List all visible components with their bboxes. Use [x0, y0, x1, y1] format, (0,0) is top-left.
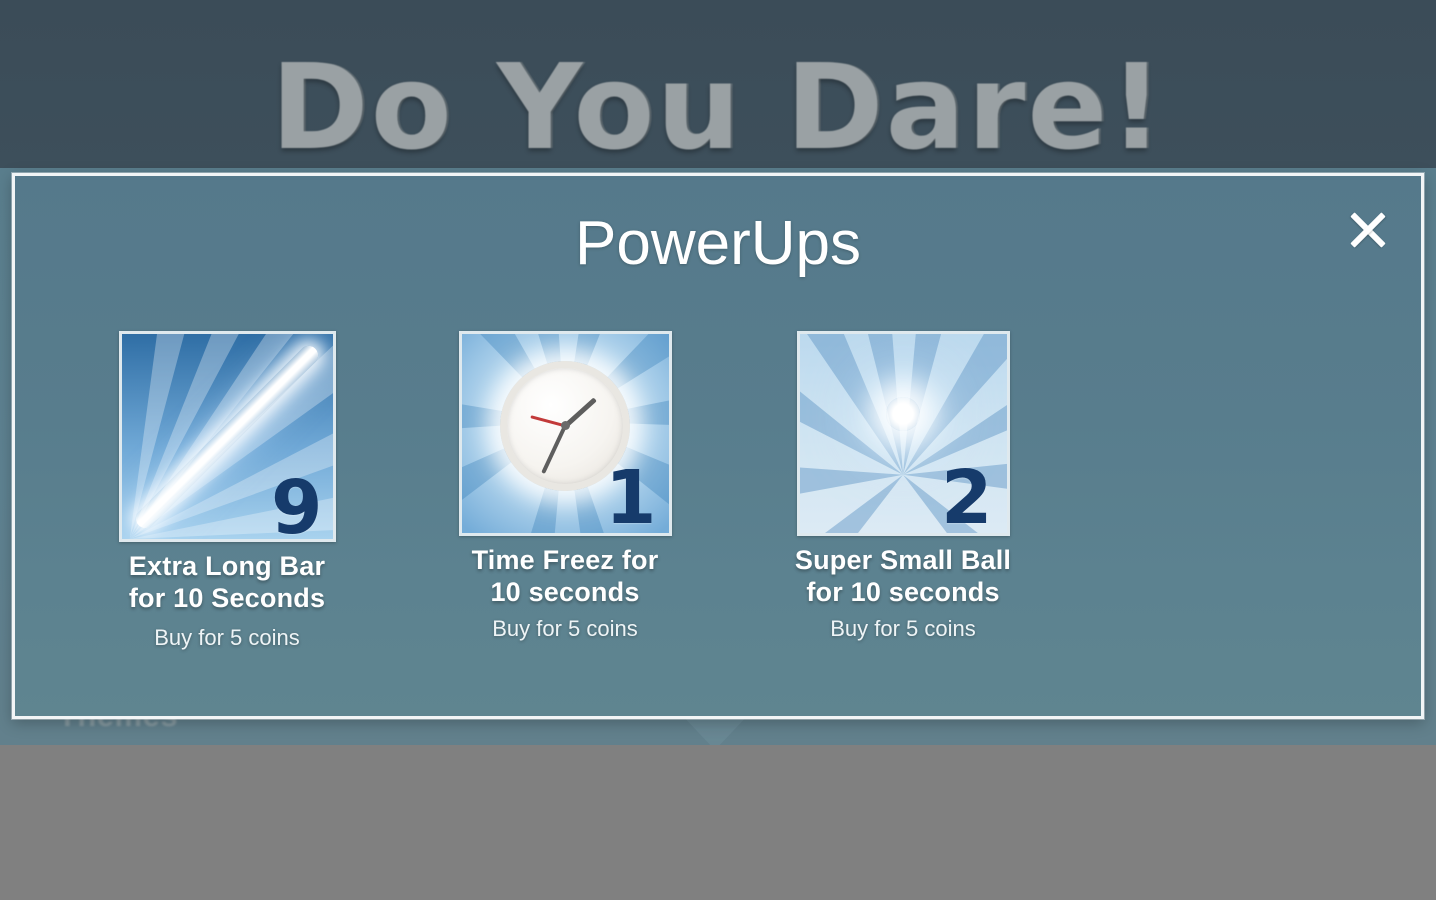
powerup-card-extra-long-bar[interactable]: 9 Extra Long Bar for 10 Seconds Buy for … [112, 331, 342, 651]
powerup-card-list: 9 Extra Long Bar for 10 Seconds Buy for … [15, 331, 1421, 651]
powerup-title-line2: for 10 Seconds [112, 583, 342, 615]
powerup-tile-time-freeze[interactable]: 1 [459, 331, 672, 536]
clock-center-pin [561, 421, 570, 430]
modal-title: PowerUps [15, 208, 1421, 279]
powerup-title: Super Small Ball for 10 seconds [788, 545, 1018, 608]
close-icon[interactable] [1341, 202, 1395, 256]
powerup-title-line2: 10 seconds [450, 577, 680, 609]
powerups-modal: PowerUps [12, 173, 1424, 719]
powerup-title: Extra Long Bar for 10 Seconds [112, 551, 342, 614]
powerup-count: 2 [941, 461, 993, 535]
powerup-title-line1: Extra Long Bar [112, 551, 342, 583]
powerup-card-time-freeze[interactable]: 1 Time Freez for 10 seconds Buy for 5 co… [450, 331, 680, 651]
small-ball-icon [886, 397, 920, 431]
bottom-strip [0, 745, 1436, 900]
powerup-price[interactable]: Buy for 5 coins [450, 616, 680, 642]
powerup-tile-super-small-ball[interactable]: 2 [797, 331, 1010, 536]
powerup-title-line1: Time Freez for [450, 545, 680, 577]
powerup-price[interactable]: Buy for 5 coins [788, 616, 1018, 642]
powerup-title-line1: Super Small Ball [788, 545, 1018, 577]
game-screen: Do You Dare! Begin PowerUps Themes [0, 0, 1436, 900]
powerup-card-super-small-ball[interactable]: 2 Super Small Ball for 10 seconds Buy fo… [788, 331, 1018, 651]
powerup-title-line2: for 10 seconds [788, 577, 1018, 609]
clock-minute-hand [541, 425, 567, 474]
powerup-count: 1 [605, 461, 657, 535]
powerup-tile-extra-long-bar[interactable]: 9 [119, 331, 336, 542]
game-title: Do You Dare! [0, 38, 1436, 176]
powerup-title: Time Freez for 10 seconds [450, 545, 680, 608]
powerup-count: 9 [271, 471, 323, 542]
powerup-price[interactable]: Buy for 5 coins [112, 625, 342, 651]
